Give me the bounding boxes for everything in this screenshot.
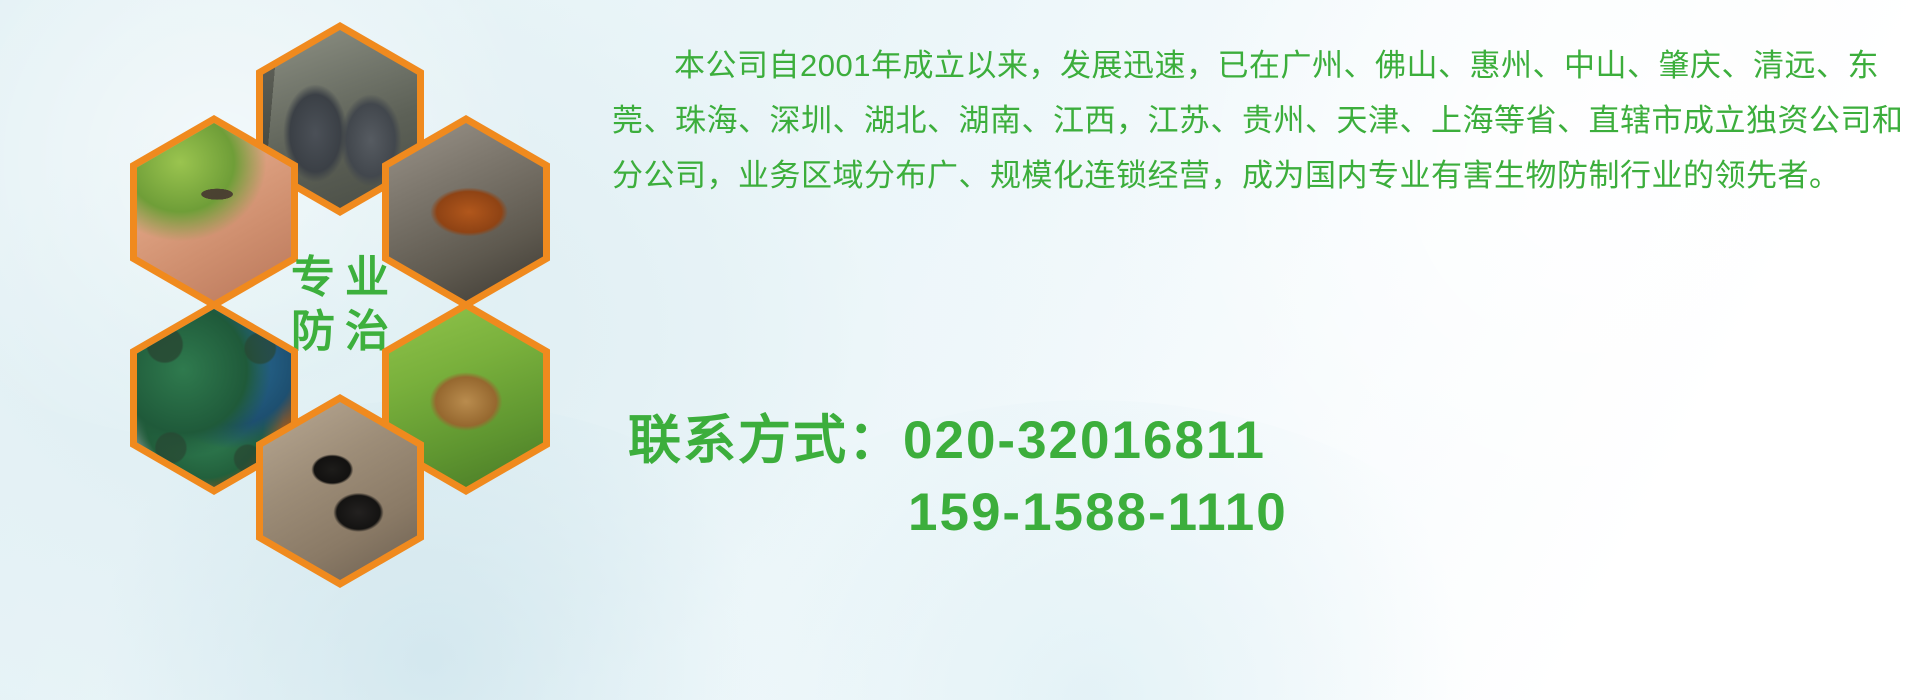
contact-secondary-line[interactable]: 159-1588-1110: [628, 477, 1288, 549]
intro-copy-block: 本公司自2001年成立以来，发展迅速，已在广州、佛山、惠州、中山、肇庆、清远、东…: [612, 38, 1912, 203]
badge-line-1: 专业: [281, 255, 399, 301]
hex-inner-ant: [263, 402, 417, 580]
ant-photo: [263, 402, 417, 580]
hexagon-photo-cluster: 专业 防治: [90, 10, 590, 570]
company-intro-paragraph: 本公司自2001年成立以来，发展迅速，已在广州、佛山、惠州、中山、肇庆、清远、东…: [612, 38, 1912, 203]
pest-control-banner: 专业 防治 本公司自2001年成立以来，发展迅速，已在广州、佛山、惠州、中山、肇…: [0, 0, 1920, 700]
badge-line-2: 防治: [281, 309, 399, 355]
contact-primary-line[interactable]: 联系方式：020-32016811: [628, 405, 1288, 477]
contact-block: 联系方式：020-32016811 159-1588-1110: [628, 405, 1288, 549]
